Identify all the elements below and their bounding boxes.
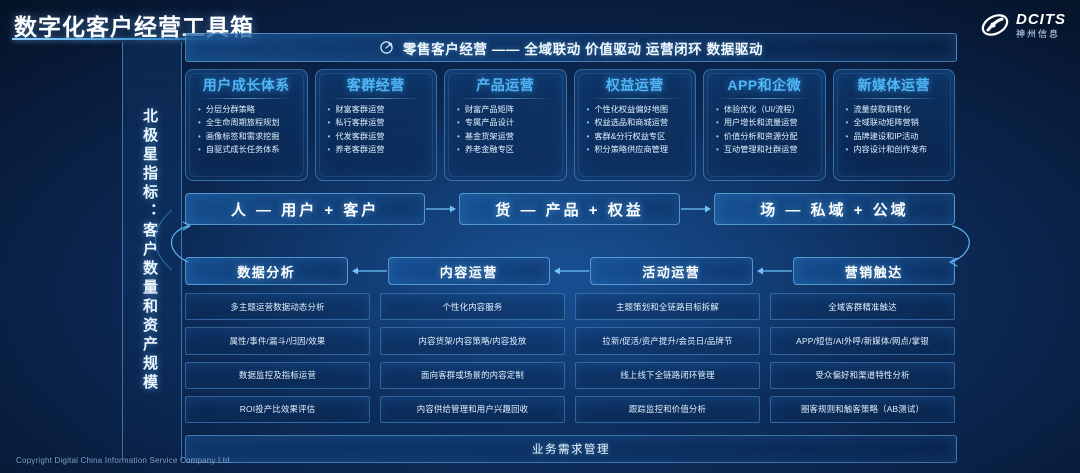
list-item-label: 互动管理和社群运营 xyxy=(724,143,798,156)
operation-header-reach[interactable]: 营销触达 xyxy=(793,257,956,285)
detail-cell[interactable]: 跟踪监控和价值分析 xyxy=(575,396,760,423)
detail-cell-label: 内容供给管理和用户兴趣回收 xyxy=(417,403,528,415)
north-star-label: 北极星指标：客户数量和资产规模 xyxy=(134,108,160,393)
list-item: •客群&分行权益专区 xyxy=(581,130,690,143)
operation-header-label: 活动运营 xyxy=(642,262,700,281)
bullet-icon: • xyxy=(457,146,460,154)
card-item-list: •个性化权益偏好地图 •权益选品和商城运营 •客群&分行权益专区 •积分策略供应… xyxy=(575,103,696,156)
card-divider xyxy=(329,98,423,99)
detail-cell[interactable]: APP/短信/AI外呼/新媒体/网点/掌银 xyxy=(770,327,955,354)
list-item: •内容设计和创作发布 xyxy=(840,143,949,156)
capability-card[interactable]: 客群经营 •财富客群运营 •私行客群运营 •代发客群运营 •养老客群运营 xyxy=(315,69,438,181)
operation-header-label: 营销触达 xyxy=(845,262,903,281)
card-title: APP和企微 xyxy=(727,75,801,95)
list-item-label: 全生命周期旅程规划 xyxy=(206,116,280,129)
arrow-right-icon xyxy=(680,203,714,215)
bullet-icon: • xyxy=(716,146,719,154)
list-item-label: 养老客群运营 xyxy=(335,143,384,156)
detail-cell[interactable]: 面向客群或场景的内容定制 xyxy=(380,362,565,389)
list-item: •分层分群策略 xyxy=(192,103,301,116)
detail-cell[interactable]: 全域客群精准触达 xyxy=(770,293,955,320)
detail-cell[interactable]: ROI投产比效果评估 xyxy=(185,396,370,423)
bullet-icon: • xyxy=(846,119,849,127)
list-item-label: 价值分析和资源分配 xyxy=(724,130,798,143)
detail-cell-label: 全域客群精准触达 xyxy=(828,301,897,313)
list-item-label: 基金货架运营 xyxy=(465,130,514,143)
detail-cell-label: 线上线下全链路闭环管理 xyxy=(620,369,714,381)
card-title: 权益运营 xyxy=(606,75,664,95)
brand-logo: DCITS 神州信息 xyxy=(980,10,1066,40)
operation-detail-grid: 多主题运营数据动态分析 属性/事件/漏斗/归因/效果 数据监控及指标运营 ROI… xyxy=(185,293,955,423)
list-item-label: 流量获取和转化 xyxy=(853,103,910,116)
detail-cell-label: 多主题运营数据动态分析 xyxy=(230,301,324,313)
operation-column-data-analysis: 多主题运营数据动态分析 属性/事件/漏斗/归因/效果 数据监控及指标运营 ROI… xyxy=(185,293,370,423)
card-item-list: •财富产品矩阵 •专属产品设计 •基金货架运营 •养老金融专区 xyxy=(445,103,566,156)
bullet-icon: • xyxy=(587,106,590,114)
detail-cell[interactable]: 属性/事件/漏斗/归因/效果 xyxy=(185,327,370,354)
bullet-icon: • xyxy=(846,133,849,141)
list-item: •个性化权益偏好地图 xyxy=(581,103,690,116)
card-title: 客群经营 xyxy=(347,75,405,95)
operation-column-reach: 全域客群精准触达 APP/短信/AI外呼/新媒体/网点/掌银 受众偏好和渠道特性… xyxy=(770,293,955,423)
bullet-icon: • xyxy=(198,106,201,114)
list-item: •专属产品设计 xyxy=(451,116,560,129)
banner-text: 零售客户经营 —— 全域联动 价值驱动 运营闭环 数据驱动 xyxy=(403,38,763,58)
logo-text-en: DCITS xyxy=(1016,12,1066,27)
logo-wordmark: DCITS 神州信息 xyxy=(1016,12,1066,39)
card-divider xyxy=(588,98,682,99)
list-item-label: 品牌建设和IP活动 xyxy=(853,130,918,143)
slide-canvas: 数字化客户经营工具箱 DCITS 神州信息 北极星指标：客户数量和资产规模 零售… xyxy=(0,0,1080,473)
bullet-icon: • xyxy=(328,106,331,114)
detail-cell-label: ROI投产比效果评估 xyxy=(240,403,316,415)
card-title: 新媒体运营 xyxy=(858,75,931,95)
list-item-label: 个性化权益偏好地图 xyxy=(594,103,668,116)
capability-card[interactable]: 新媒体运营 •流量获取和转化 •全域联动矩阵营销 •品牌建设和IP活动 •内容设… xyxy=(833,69,956,181)
list-item-label: 私行客群运营 xyxy=(335,116,384,129)
bullet-icon: • xyxy=(328,133,331,141)
bullet-icon: • xyxy=(716,119,719,127)
flow-step-scene[interactable]: 场 — 私域 + 公域 xyxy=(714,193,955,225)
capability-card[interactable]: APP和企微 •体验优化（UI/流程） •用户增长和流量运营 •价值分析和资源分… xyxy=(703,69,826,181)
detail-cell[interactable]: 多主题运营数据动态分析 xyxy=(185,293,370,320)
flow-step-goods[interactable]: 货 — 产品 + 权益 xyxy=(459,193,680,225)
list-item-label: 权益选品和商城运营 xyxy=(594,116,668,129)
list-item: •代发客群运营 xyxy=(322,130,431,143)
bullet-icon: • xyxy=(587,133,590,141)
business-demand-label: 业务需求管理 xyxy=(532,441,610,457)
operation-header-row: 数据分析 内容运营 活动运营 营销触达 xyxy=(185,258,955,284)
logo-text-cn: 神州信息 xyxy=(1016,30,1066,39)
detail-cell[interactable]: 内容货架/内容策略/内容投放 xyxy=(380,327,565,354)
detail-cell[interactable]: 内容供给管理和用户兴趣回收 xyxy=(380,396,565,423)
flow-row: 人 — 用户 + 客户 货 — 产品 + 权益 场 — 私域 + 公域 xyxy=(185,192,955,226)
detail-cell-label: 拉新/促活/资产提升/会员日/品牌节 xyxy=(602,335,732,347)
list-item: •价值分析和资源分配 xyxy=(710,130,819,143)
list-item: •流量获取和转化 xyxy=(840,103,949,116)
card-title: 用户成长体系 xyxy=(203,75,290,95)
business-demand-bar[interactable]: 业务需求管理 xyxy=(185,435,957,463)
list-item: •互动管理和社群运营 xyxy=(710,143,819,156)
bullet-icon: • xyxy=(328,119,331,127)
card-item-list: •流量获取和转化 •全域联动矩阵营销 •品牌建设和IP活动 •内容设计和创作发布 xyxy=(834,103,955,156)
bullet-icon: • xyxy=(716,133,719,141)
list-item: •积分策略供应商管理 xyxy=(581,143,690,156)
arrow-left-icon xyxy=(348,265,388,277)
bullet-icon: • xyxy=(457,119,460,127)
card-divider xyxy=(458,98,552,99)
list-item-label: 养老金融专区 xyxy=(465,143,514,156)
detail-cell-label: 圈客规则和触客策略（AB测试） xyxy=(801,403,924,415)
detail-cell-label: 个性化内容服务 xyxy=(442,301,502,313)
bullet-icon: • xyxy=(457,133,460,141)
bullet-icon: • xyxy=(198,133,201,141)
strategy-banner: 零售客户经营 —— 全域联动 价值驱动 运营闭环 数据驱动 xyxy=(185,33,957,62)
arrow-left-icon xyxy=(550,265,590,277)
list-item: •品牌建设和IP活动 xyxy=(840,130,949,143)
operation-header-content[interactable]: 内容运营 xyxy=(388,257,551,285)
detail-cell-label: 受众偏好和渠道特性分析 xyxy=(815,369,909,381)
list-item-label: 用户增长和流量运营 xyxy=(724,116,798,129)
detail-cell-label: 跟踪监控和价值分析 xyxy=(629,403,706,415)
bullet-icon: • xyxy=(198,146,201,154)
operation-header-label: 内容运营 xyxy=(440,262,498,281)
detail-cell-label: 主题策划和全链路目标拆解 xyxy=(616,301,719,313)
arrow-right-icon xyxy=(425,203,459,215)
bullet-icon: • xyxy=(198,119,201,127)
detail-cell-label: APP/短信/AI外呼/新媒体/网点/掌银 xyxy=(796,335,929,347)
list-item-label: 财富产品矩阵 xyxy=(465,103,514,116)
detail-cell[interactable]: 受众偏好和渠道特性分析 xyxy=(770,362,955,389)
detail-cell[interactable]: 圈客规则和触客策略（AB测试） xyxy=(770,396,955,423)
operation-column-content: 个性化内容服务 内容货架/内容策略/内容投放 面向客群或场景的内容定制 内容供给… xyxy=(380,293,565,423)
flow-step-label: 场 — 私域 + 公域 xyxy=(760,199,908,220)
operation-header-label: 数据分析 xyxy=(237,262,295,281)
capability-card-row: 用户成长体系 •分层分群策略 •全生命周期旅程规划 •画像标签和需求挖掘 •自驱… xyxy=(185,69,955,181)
detail-cell[interactable]: 个性化内容服务 xyxy=(380,293,565,320)
operation-header-campaign[interactable]: 活动运营 xyxy=(590,257,753,285)
card-item-list: •体验优化（UI/流程） •用户增长和流量运营 •价值分析和资源分配 •互动管理… xyxy=(704,103,825,156)
capability-card[interactable]: 用户成长体系 •分层分群策略 •全生命周期旅程规划 •画像标签和需求挖掘 •自驱… xyxy=(185,69,308,181)
list-item: •私行客群运营 xyxy=(322,116,431,129)
bullet-icon: • xyxy=(716,106,719,114)
capability-card[interactable]: 产品运营 •财富产品矩阵 •专属产品设计 •基金货架运营 •养老金融专区 xyxy=(444,69,567,181)
list-item-label: 全域联动矩阵营销 xyxy=(853,116,919,129)
list-item-label: 体验优化（UI/流程） xyxy=(724,103,800,116)
list-item-label: 积分策略供应商管理 xyxy=(594,143,668,156)
list-item: •全生命周期旅程规划 xyxy=(192,116,301,129)
list-item-label: 分层分群策略 xyxy=(206,103,255,116)
flow-step-label: 人 — 用户 + 客户 xyxy=(231,199,379,220)
detail-cell-label: 数据监控及指标运营 xyxy=(239,369,316,381)
list-item: •养老客群运营 xyxy=(322,143,431,156)
list-item: •基金货架运营 xyxy=(451,130,560,143)
card-title: 产品运营 xyxy=(476,75,534,95)
list-item: •用户增长和流量运营 xyxy=(710,116,819,129)
detail-cell-label: 内容货架/内容策略/内容投放 xyxy=(419,335,527,347)
detail-cell[interactable]: 数据监控及指标运营 xyxy=(185,362,370,389)
bullet-icon: • xyxy=(328,146,331,154)
bullet-icon: • xyxy=(846,106,849,114)
copyright-text: Copyright Digital China Information Serv… xyxy=(16,456,232,465)
bullet-icon: • xyxy=(587,119,590,127)
flow-step-people[interactable]: 人 — 用户 + 客户 xyxy=(185,193,425,225)
list-item-label: 代发客群运营 xyxy=(335,130,384,143)
list-item: •财富客群运营 xyxy=(322,103,431,116)
list-item-label: 画像标签和需求挖掘 xyxy=(206,130,280,143)
card-divider xyxy=(199,98,293,99)
card-divider xyxy=(847,98,941,99)
detail-cell[interactable]: 主题策划和全链路目标拆解 xyxy=(575,293,760,320)
detail-cell[interactable]: 拉新/促活/资产提升/会员日/品牌节 xyxy=(575,327,760,354)
dcits-swirl-icon xyxy=(980,10,1010,40)
bullet-icon: • xyxy=(846,146,849,154)
list-item: •权益选品和商城运营 xyxy=(581,116,690,129)
detail-cell[interactable]: 线上线下全链路闭环管理 xyxy=(575,362,760,389)
operation-column-campaign: 主题策划和全链路目标拆解 拉新/促活/资产提升/会员日/品牌节 线上线下全链路闭… xyxy=(575,293,760,423)
list-item-label: 财富客群运营 xyxy=(335,103,384,116)
list-item: •自驱式成长任务体系 xyxy=(192,143,301,156)
bullet-icon: • xyxy=(587,146,590,154)
list-item: •全域联动矩阵营销 xyxy=(840,116,949,129)
list-item: •财富产品矩阵 xyxy=(451,103,560,116)
flow-step-label: 货 — 产品 + 权益 xyxy=(495,199,643,220)
card-item-list: •财富客群运营 •私行客群运营 •代发客群运营 •养老客群运营 xyxy=(316,103,437,156)
arrow-left-icon xyxy=(753,265,793,277)
list-item-label: 自驱式成长任务体系 xyxy=(206,143,280,156)
card-divider xyxy=(717,98,811,99)
list-item-label: 专属产品设计 xyxy=(465,116,514,129)
list-item: •体验优化（UI/流程） xyxy=(710,103,819,116)
list-item: •画像标签和需求挖掘 xyxy=(192,130,301,143)
list-item: •养老金融专区 xyxy=(451,143,560,156)
card-item-list: •分层分群策略 •全生命周期旅程规划 •画像标签和需求挖掘 •自驱式成长任务体系 xyxy=(186,103,307,156)
target-arrow-icon xyxy=(379,40,394,55)
detail-cell-label: 属性/事件/漏斗/归因/效果 xyxy=(230,335,326,347)
capability-card[interactable]: 权益运营 •个性化权益偏好地图 •权益选品和商城运营 •客群&分行权益专区 •积… xyxy=(574,69,697,181)
list-item-label: 客群&分行权益专区 xyxy=(594,130,665,143)
operation-header-data-analysis[interactable]: 数据分析 xyxy=(185,257,348,285)
detail-cell-label: 面向客群或场景的内容定制 xyxy=(421,369,524,381)
bullet-icon: • xyxy=(457,106,460,114)
list-item-label: 内容设计和创作发布 xyxy=(853,143,927,156)
